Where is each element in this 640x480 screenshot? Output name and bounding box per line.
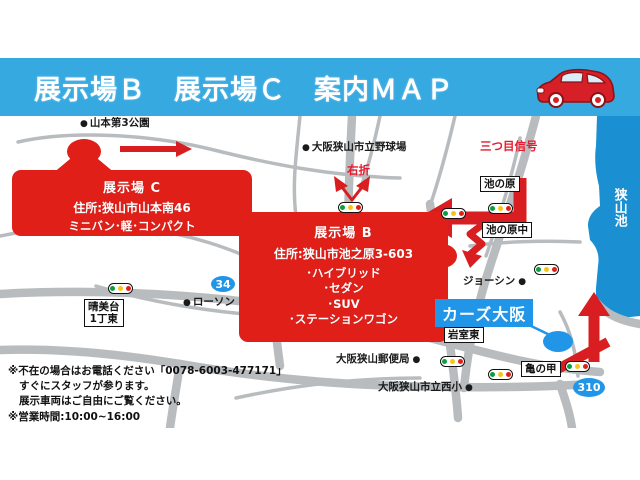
callout-c-items: ミニバン･軽･コンパクト [12,218,252,234]
callout-c-address: 住所:狭山市山本南46 [12,199,252,216]
signal-green [340,205,345,210]
signal-red [126,286,131,291]
signal-yellow [348,205,353,210]
landmark-osakasayama-baseball-stadium: 大阪狭山市立野球場 [302,141,406,153]
signal-red [459,211,464,216]
landmark-osakasayama-nishi-elementary: 大阪狭山市立西小 [378,381,473,393]
intersection-iwamuro-higashi: 岩室東 [444,327,484,343]
traffic-signal-4 [488,203,513,214]
callout-showroom-c[interactable]: 展示場 C 住所:狭山市山本南46 ミニバン･軽･コンパクト [12,170,252,236]
lake-label-sayamaike: 狭山池 [612,188,626,227]
traffic-signal-5 [534,264,559,275]
traffic-signal-2 [338,202,363,213]
signal-green [490,372,495,377]
callout-c-title: 展示場 C [12,177,252,196]
signal-green [443,211,448,216]
signal-yellow [450,359,455,364]
intersection-harumidai-line1: 晴美台 [88,301,120,313]
callout-b-address: 住所:狭山市池之原3-603 [239,245,448,262]
shop-label-cars-osaka[interactable]: カーズ大阪 [435,299,533,327]
signal-red [506,372,511,377]
note-line-2: すぐにスタッフが参ります。 [8,379,308,394]
traffic-signal-8 [565,361,590,372]
traffic-signal-3 [441,208,466,219]
signal-yellow [118,286,123,291]
signal-yellow [498,206,503,211]
signal-red [583,364,588,369]
page-title: 展示場Ｂ 展示場Ｃ 案内ＭＡＰ [34,68,454,107]
callout-b-title: 展示場 B [239,222,448,241]
route-shield-34: 34 [211,276,235,292]
signal-red [506,206,511,211]
red-car-icon [532,66,618,108]
signal-green [536,267,541,272]
traffic-signal-1 [108,283,133,294]
page-header: 展示場Ｂ 展示場Ｃ 案内ＭＡＰ [0,58,640,116]
annotation-turn-right: 右折 [347,162,370,178]
intersection-kamenoko: 亀の甲 [521,361,561,377]
landmark-joshin: ジョーシン [463,275,526,287]
signal-yellow [575,364,580,369]
callout-b-item-2: ･SUV [239,297,448,312]
note-line-4: ※営業時間:10:00~16:00 [8,410,308,425]
traffic-signal-6 [440,356,465,367]
intersection-harumidai-1chome-higashi: 晴美台 1丁東 [84,299,124,327]
signal-yellow [544,267,549,272]
signal-yellow [498,372,503,377]
annotation-third-signal: 三つ目信号 [480,138,538,154]
signal-green [567,364,572,369]
callout-b-item-3: ･ステーションワゴン [239,312,448,327]
intersection-harumidai-line2: 1丁東 [88,313,120,325]
signal-green [110,286,115,291]
signal-yellow [451,211,456,216]
landmark-osakasayama-post-office: 大阪狭山郵便局 [336,353,420,365]
landmark-yamamoto-3-park: 山本第3公園 [80,117,150,129]
note-line-1: ※不在の場合はお電話ください「0078-6003-477171」 [8,364,308,379]
callout-showroom-b[interactable]: 展示場 B 住所:狭山市池之原3-603 ･ハイブリッド ･セダン ･SUV ･… [239,212,448,342]
signal-red [458,359,463,364]
callout-b-item-0: ･ハイブリッド [239,266,448,281]
route-shield-310: 310 [573,378,605,397]
footer-notes: ※不在の場合はお電話ください「0078-6003-477171」 すぐにスタッフ… [8,364,308,425]
traffic-signal-7 [488,369,513,380]
callout-b-item-1: ･セダン [239,281,448,296]
landmark-lawson: ローソン [183,296,235,308]
signal-red [356,205,361,210]
note-line-3: 展示車両はご自由にご覧ください。 [8,394,308,409]
shop-location-marker [543,331,573,352]
intersection-ikenohara-naka: 池の原中 [482,222,532,238]
intersection-ikenohara: 池の原 [480,176,520,192]
signal-green [442,359,447,364]
signal-red [552,267,557,272]
map-page: 展示場Ｂ 展示場Ｃ 案内ＭＡＰ [0,0,640,480]
signal-green [490,206,495,211]
